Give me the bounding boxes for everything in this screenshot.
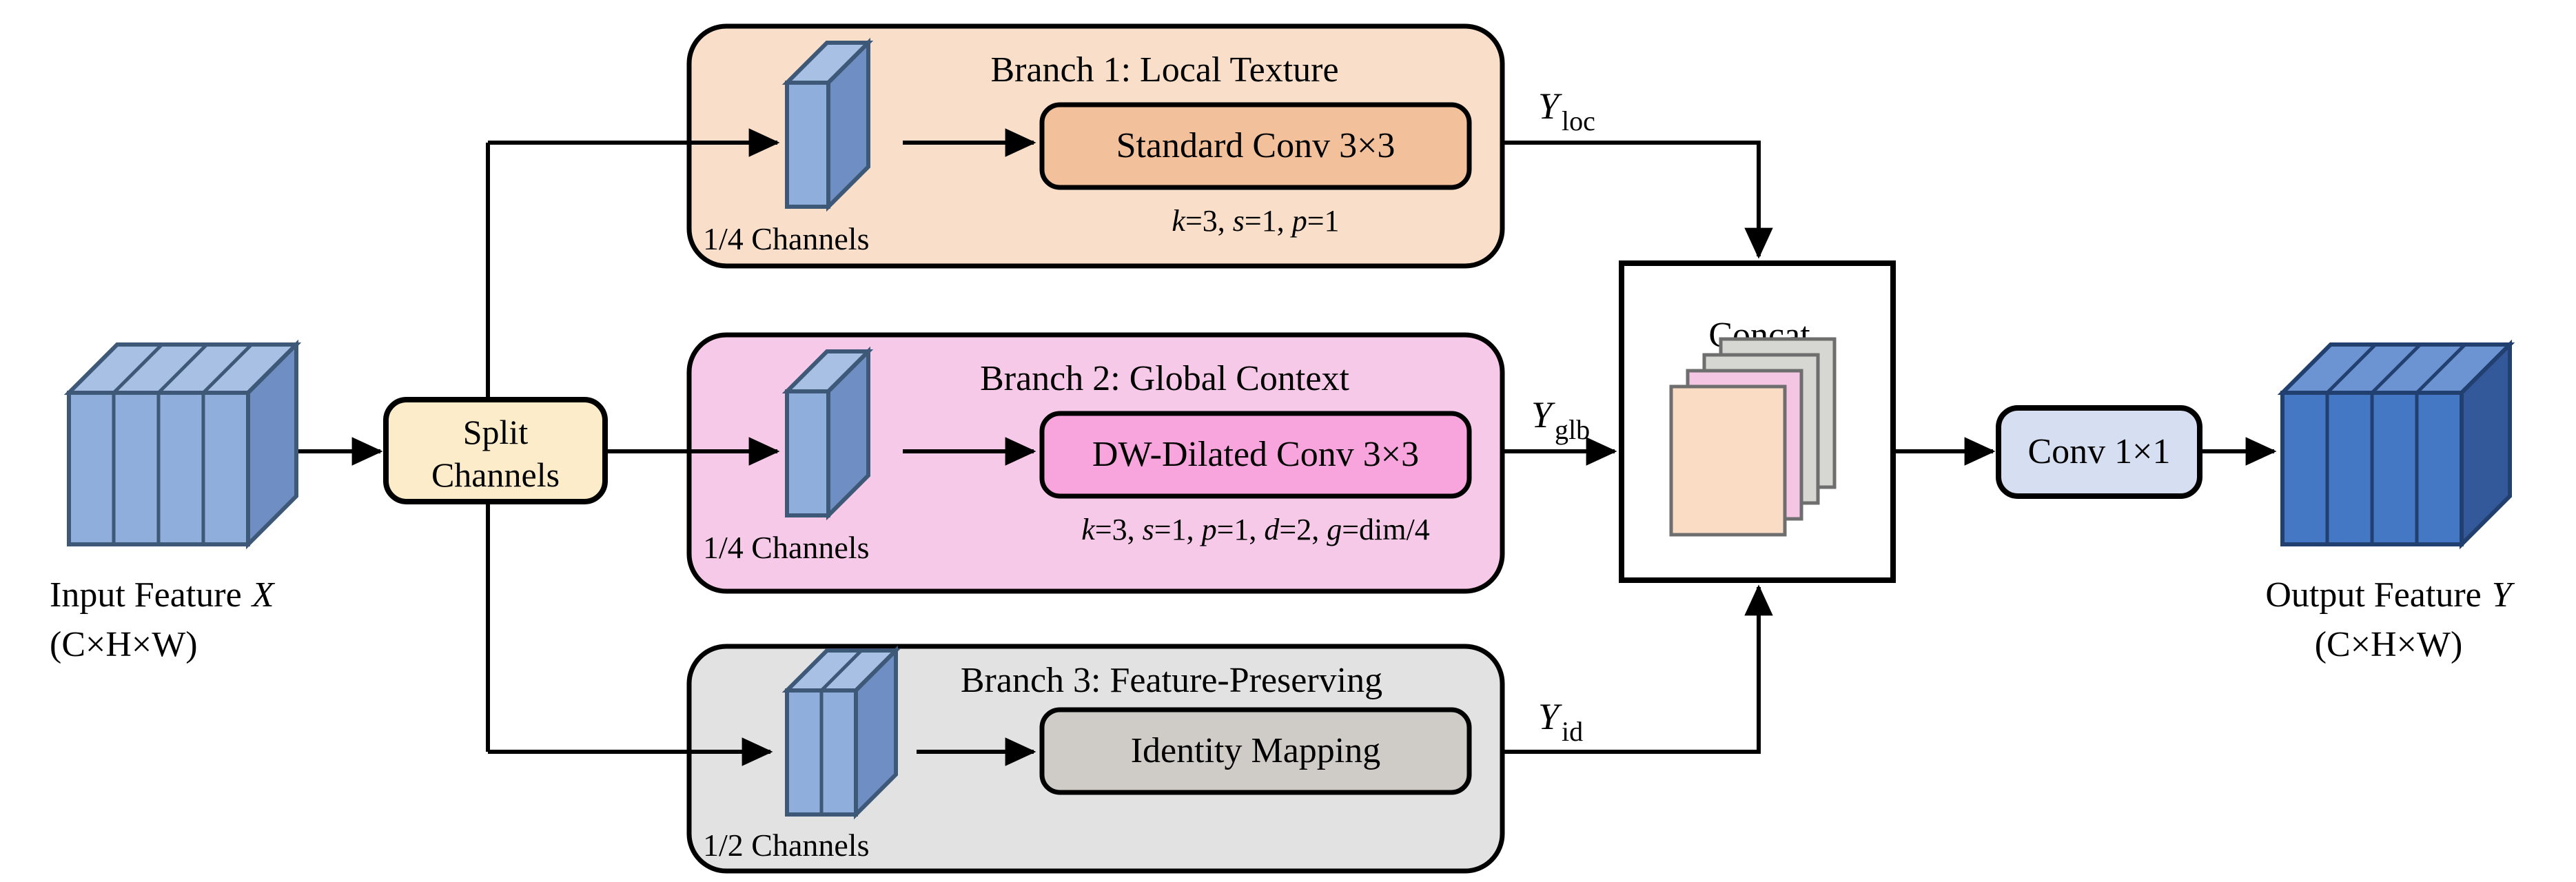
branch-2-op-label: DW-Dilated Conv 3×3 (1092, 435, 1419, 474)
diagram-canvas: Input Feature X (C×H×W) Split Channels 1… (0, 0, 2576, 882)
branch-3-title: Branch 3: Feature-Preserving (961, 661, 1382, 700)
branch-3-slab (787, 650, 896, 814)
conv-1x1-label: Conv 1×1 (2027, 432, 2170, 471)
branch-2-channels-label: 1/4 Channels (703, 530, 869, 565)
concat-box[interactable]: Concat (1622, 263, 1893, 580)
split-label-line1: Split (463, 413, 529, 451)
edge-branch-1-to-concat (1502, 143, 1759, 256)
concat-sheet-peach (1671, 387, 1785, 535)
output-feature-label: Output Feature Y (2265, 575, 2515, 615)
branch-3-channels-label: 1/2 Channels (703, 828, 869, 863)
branch-2-title: Branch 2: Global Context (980, 359, 1349, 398)
split-channels-box[interactable]: Split Channels (386, 400, 605, 502)
branch-1-title: Branch 1: Local Texture (990, 50, 1338, 90)
branch-2-output-label: Yglb (1531, 394, 1590, 445)
branch-1-slab-face (787, 83, 828, 207)
input-feature-label: Input Feature X (50, 575, 276, 615)
branch-1-op-label: Standard Conv 3×3 (1116, 126, 1396, 165)
branch-2-params: k=3, s=1, p=1, d=2, g=dim/4 (1081, 513, 1429, 546)
branch-1-params: k=3, s=1, p=1 (1172, 204, 1339, 238)
branch-1-channels-label: 1/4 Channels (703, 221, 869, 256)
branch-2-op-box[interactable]: DW-Dilated Conv 3×3 (1042, 413, 1469, 496)
output-feature-dims: (C×H×W) (2315, 625, 2463, 664)
output-feature-cube[interactable] (2282, 345, 2510, 544)
branch-1-output-label: Yloc (1538, 85, 1595, 136)
branch-1-op-box[interactable]: Standard Conv 3×3 (1042, 105, 1469, 187)
architecture-diagram: Input Feature X (C×H×W) Split Channels 1… (0, 0, 2576, 882)
split-label-line2: Channels (431, 455, 560, 494)
branch-3-op-box[interactable]: Identity Mapping (1042, 710, 1469, 792)
branch-3-output-label: Yid (1538, 696, 1583, 747)
input-feature-dims: (C×H×W) (50, 625, 198, 664)
conv-1x1-box[interactable]: Conv 1×1 (1999, 408, 2200, 496)
input-feature-cube[interactable] (69, 345, 296, 544)
branch-3-op-label: Identity Mapping (1131, 731, 1381, 770)
branch-2-slab-face (787, 391, 828, 515)
